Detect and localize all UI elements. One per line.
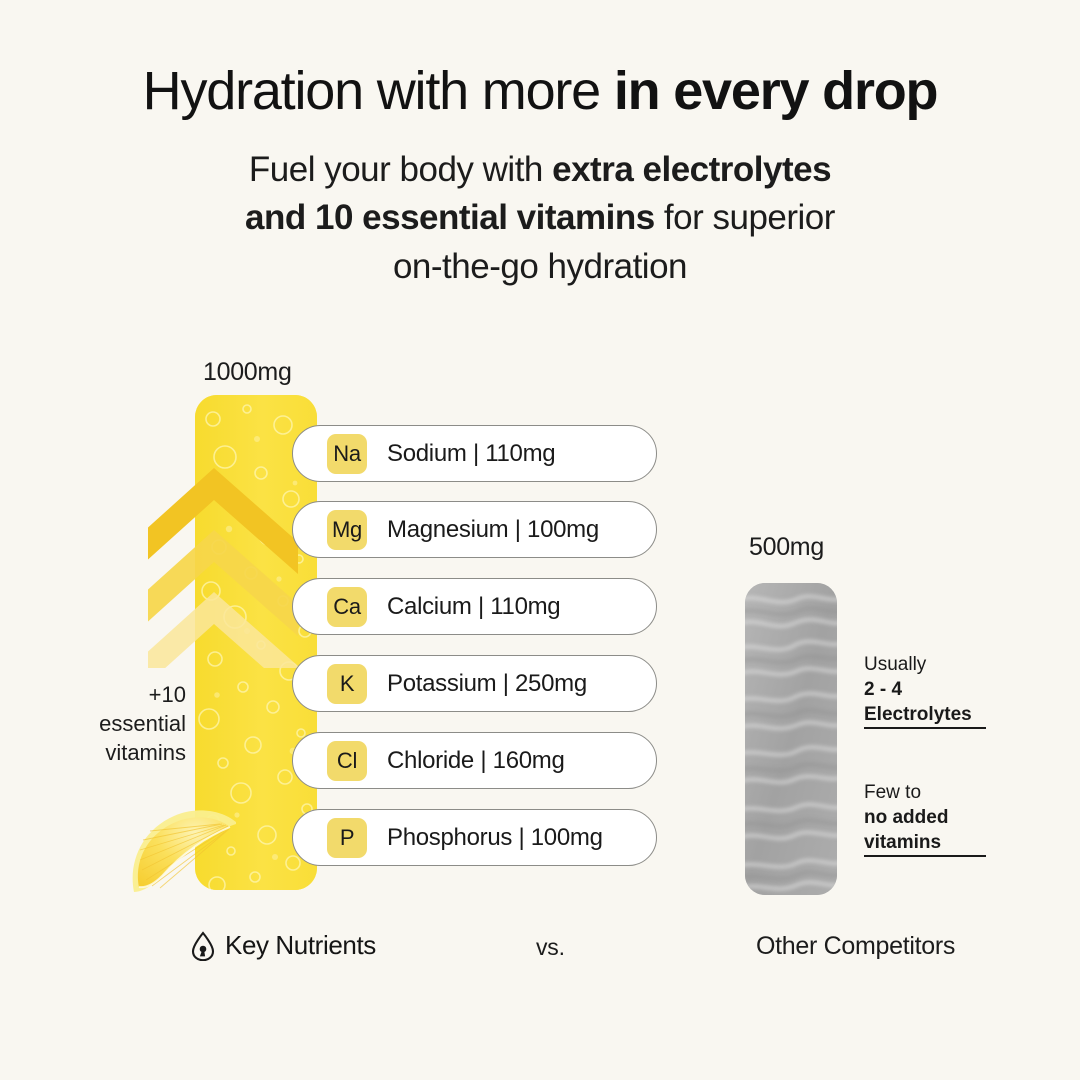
subtitle-line-3: on-the-go hydration	[0, 243, 1080, 291]
brand-footer-label: Key Nutrients	[190, 930, 376, 961]
competitor-footer-label: Other Competitors	[756, 932, 955, 961]
competitor-note-vitamins: Few to no added vitamins	[864, 780, 988, 855]
nutrient-pill-magnesium[interactable]: Mg Magnesium | 100mg	[292, 501, 657, 558]
element-symbol-badge: K	[327, 664, 367, 704]
competitor-note-divider	[864, 727, 986, 729]
vitamins-note-line-1: +10	[60, 680, 186, 709]
page-title: Hydration with more in every drop	[0, 62, 1080, 120]
competitor-note-divider	[864, 855, 986, 857]
subtitle-text: Fuel your body with	[249, 150, 552, 189]
droplet-key-logo-icon	[190, 931, 216, 961]
nutrient-pill-potassium[interactable]: K Potassium | 250mg	[292, 655, 657, 712]
nutrient-pill-chloride[interactable]: Cl Chloride | 160mg	[292, 732, 657, 789]
water-texture-icon	[745, 583, 837, 895]
subtitle-line-1: Fuel your body with extra electrolytes	[0, 146, 1080, 194]
subtitle-text: for superior	[655, 198, 835, 237]
element-symbol-badge: Cl	[327, 741, 367, 781]
element-symbol-badge: P	[327, 818, 367, 858]
subtitle-emphasis: and 10 essential vitamins	[245, 198, 655, 237]
subtitle-line-2: and 10 essential vitamins for superior	[0, 194, 1080, 242]
competitor-note-regular: Few to	[864, 780, 988, 805]
competitor-amount-label: 500mg	[749, 533, 824, 562]
competitor-note-bold-line-1: 2 - 4	[864, 677, 988, 702]
brand-amount-label: 1000mg	[203, 358, 292, 387]
vs-label: vs.	[536, 934, 565, 961]
page-subtitle: Fuel your body with extra electrolytes a…	[0, 146, 1080, 291]
nutrient-label: Sodium | 110mg	[387, 440, 555, 468]
subtitle-emphasis: extra electrolytes	[552, 150, 831, 189]
nutrient-label: Phosphorus | 100mg	[387, 824, 603, 852]
competitor-note-bold-line-2: vitamins	[864, 830, 988, 855]
lemon-slice-icon	[126, 806, 244, 898]
nutrient-label: Magnesium | 100mg	[387, 516, 599, 544]
competitor-note-bold-line-2: Electrolytes	[864, 702, 988, 727]
nutrient-label: Calcium | 110mg	[387, 593, 560, 621]
nutrient-pill-sodium[interactable]: Na Sodium | 110mg	[292, 425, 657, 482]
brand-name: Key Nutrients	[225, 930, 376, 961]
vitamins-note-line-2: essential	[60, 709, 186, 738]
headline-bold: in every drop	[614, 61, 938, 121]
competitor-note-electrolytes: Usually 2 - 4 Electrolytes	[864, 652, 988, 727]
nutrient-label: Potassium | 250mg	[387, 670, 587, 698]
competitor-note-regular: Usually	[864, 652, 988, 677]
nutrient-label: Chloride | 160mg	[387, 747, 565, 775]
nutrient-pill-phosphorus[interactable]: P Phosphorus | 100mg	[292, 809, 657, 866]
element-symbol-badge: Mg	[327, 510, 367, 550]
nutrient-pill-calcium[interactable]: Ca Calcium | 110mg	[292, 578, 657, 635]
vitamins-note: +10 essential vitamins	[60, 680, 186, 767]
competitor-bar	[745, 583, 837, 895]
element-symbol-badge: Na	[327, 434, 367, 474]
upward-chevrons-icon	[148, 468, 328, 668]
element-symbol-badge: Ca	[327, 587, 367, 627]
vitamins-note-line-3: vitamins	[60, 738, 186, 767]
headline-regular: Hydration with more	[143, 61, 614, 121]
competitor-note-bold-line-1: no added	[864, 805, 988, 830]
